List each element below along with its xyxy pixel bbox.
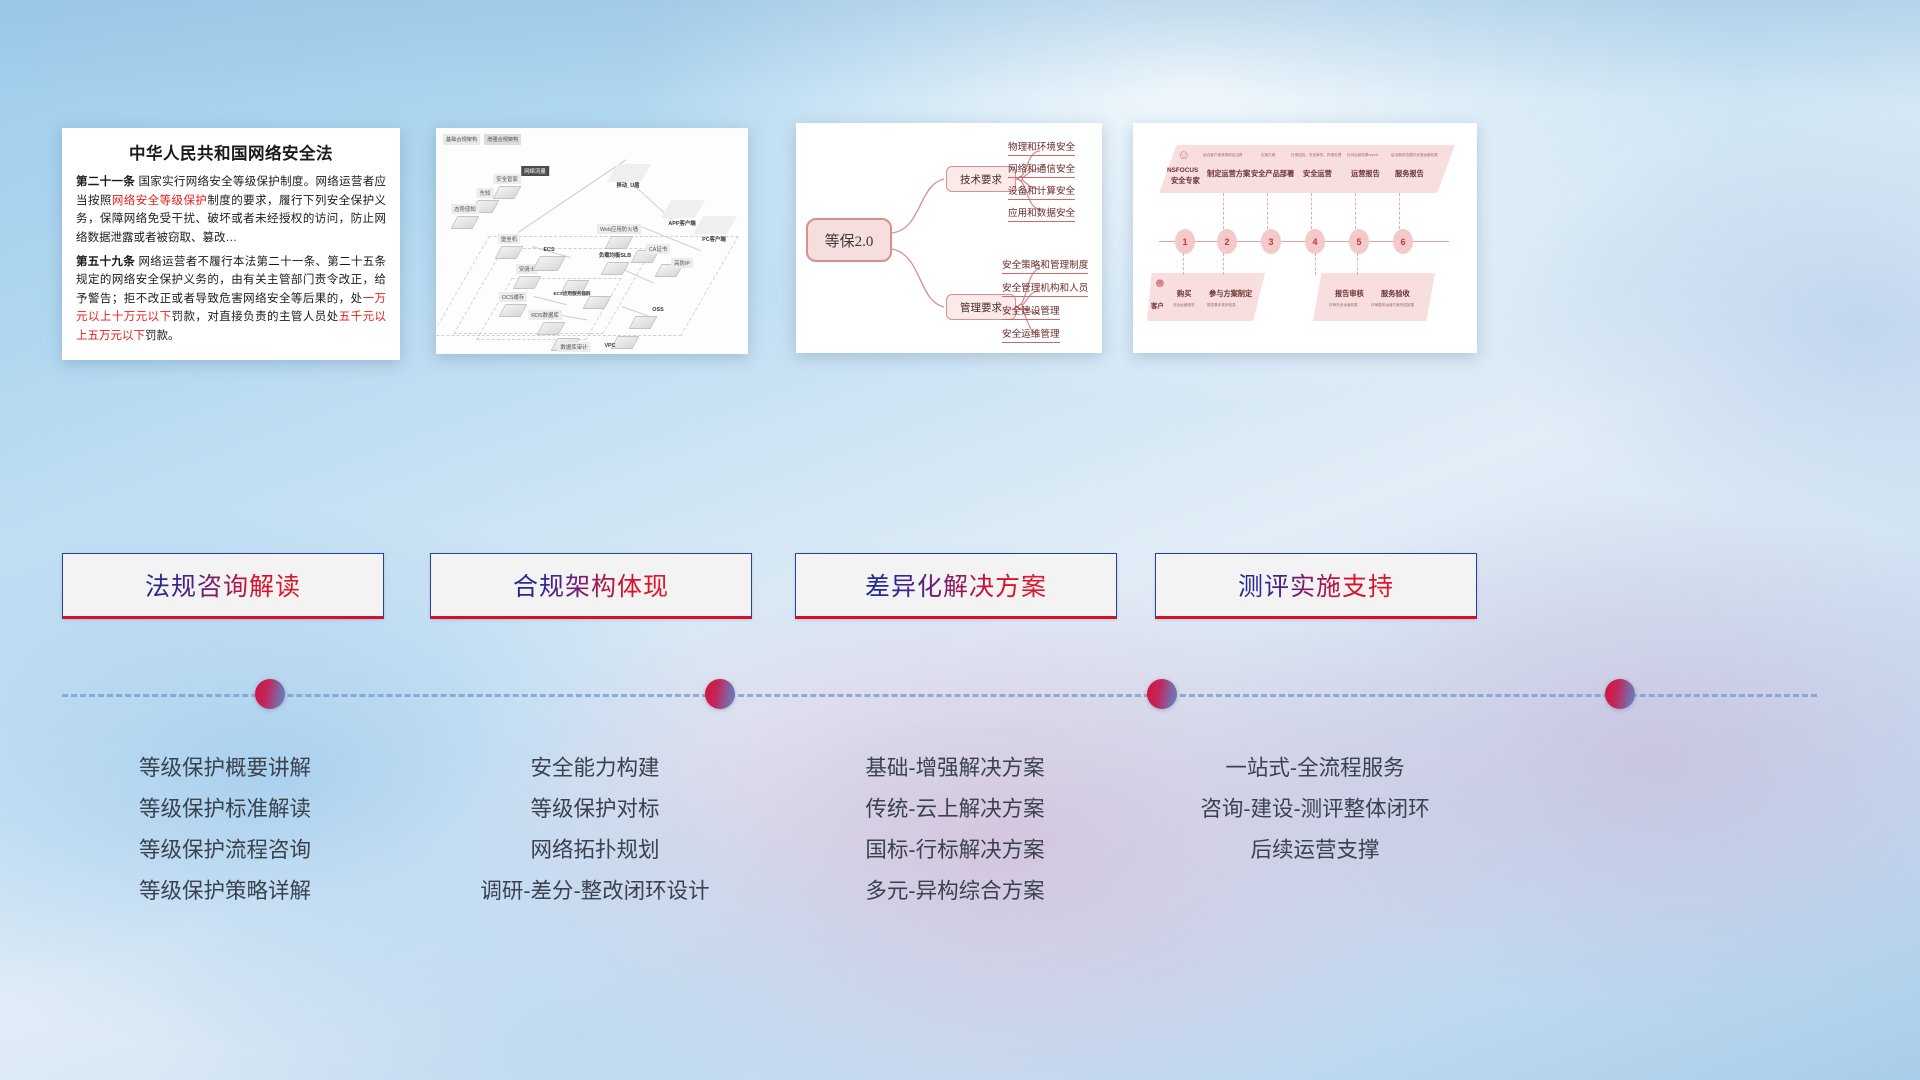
- card-cybersecurity-law: 中华人民共和国网络安全法 第二十一条 国家实行网络安全等级保护制度。网络运营者应…: [62, 128, 400, 360]
- process-bottom-sub-1: 安全运营服务: [1173, 303, 1195, 308]
- process-expert-brand: NSFOCUS: [1167, 167, 1198, 174]
- customer-icon: ☻: [1153, 275, 1167, 290]
- law-article-59-label: 第五十九条: [76, 256, 135, 268]
- arch-node-pc-client: PC客户端: [699, 234, 729, 244]
- process-top-sub-3: 日常巡检、安全事件、异常处理: [1291, 153, 1341, 158]
- process-top-sub-1: 结合客户现状调研后出具: [1203, 153, 1243, 158]
- mindmap-leaf-policy-system: 安全策略和管理制度: [1002, 257, 1088, 274]
- list-item: 网络拓扑规划: [430, 830, 760, 871]
- list-item: 等级保护概要讲解: [60, 748, 390, 789]
- law-article-59-text-b: 罚款，对直接负责的主管人员处: [172, 311, 339, 323]
- arch-node-app-client: APP客户端: [665, 218, 698, 228]
- mindmap-leaf-physical-env: 物理和环境安全: [1008, 139, 1075, 156]
- list-item: 后续运营支撑: [1150, 830, 1480, 871]
- list-item: 一站式-全流程服务: [1150, 748, 1480, 789]
- process-top-title-3: 安全运营: [1303, 169, 1332, 179]
- process-top-sub-4: 针对运营效果report: [1347, 153, 1378, 158]
- list-item: 等级保护策略详解: [60, 871, 390, 912]
- law-article-21-label: 第二十一条: [76, 176, 135, 188]
- process-bottom-sub-2: 提供基本现状信息: [1207, 303, 1236, 308]
- timeline-dashed-line: [62, 694, 1817, 697]
- security-expert-icon: ☺: [1177, 147, 1190, 162]
- process-expert-role: 安全专家: [1171, 176, 1200, 186]
- arch-node-ecs: ECS: [540, 246, 557, 254]
- arch-node-ecs-cluster: ECS应用服务器群: [550, 290, 593, 298]
- arch-node-security-butler: 安全管家: [493, 174, 521, 184]
- process-bottom-title-4: 服务验收: [1381, 289, 1410, 299]
- mindmap-leaf-ops-mgmt: 安全运维管理: [1002, 326, 1060, 343]
- bullet-column-2: 安全能力构建 等级保护对标 网络拓扑规划 调研-差分-整改闭环设计: [430, 748, 760, 911]
- list-item: 等级保护流程咨询: [60, 830, 390, 871]
- list-item: 等级保护对标: [430, 789, 760, 830]
- arch-node-bastion-host: 堡垒机: [498, 234, 520, 244]
- timeline-dot-4[interactable]: [1605, 679, 1635, 709]
- title-label-2: 合规架构体现: [513, 567, 669, 603]
- bullet-column-4: 一站式-全流程服务 咨询-建设-测评整体闭环 后续运营支撑: [1150, 748, 1480, 871]
- arch-node-slb: 负载均衡SLB: [596, 250, 634, 260]
- arch-node-rds: RDS数据库: [528, 310, 562, 320]
- list-item: 传统-云上解决方案: [790, 789, 1120, 830]
- mindmap-leaf-device-compute: 设备和计算安全: [1008, 183, 1075, 200]
- title-label-1: 法规咨询解读: [145, 567, 301, 603]
- law-article-59: 第五十九条 网络运营者不履行本法第二十一条、第二十五条规定的网络安全保护义务的，…: [76, 253, 386, 346]
- process-top-sub-5: 给出服务范围内全部运营效果: [1391, 153, 1438, 158]
- mindmap-leaf-build-mgmt: 安全建设管理: [1002, 303, 1060, 320]
- title-box-evaluation-support[interactable]: 测评实施支持: [1155, 553, 1477, 619]
- mindmap-leaf-app-data: 应用和数据安全: [1008, 205, 1075, 222]
- process-step-2[interactable]: 2: [1217, 229, 1237, 254]
- arch-node-traffic: 网络流量: [521, 166, 549, 176]
- timeline-dot-3[interactable]: [1147, 679, 1177, 709]
- timeline-dot-2[interactable]: [705, 679, 735, 709]
- arch-node-situational-awareness: 态势感知: [451, 204, 479, 214]
- arch-node-oss: OSS: [649, 306, 666, 314]
- arch-node-ca-certificate: CA证书: [646, 244, 670, 254]
- mindmap-branch-technical: 技术要求: [946, 166, 1016, 192]
- card-compliance-architecture: 基础合规架构 增强合规架构 网络流量 安全管家 先知 态势感知 堡垒机 安骑士: [436, 128, 748, 354]
- title-box-regulation-consulting[interactable]: 法规咨询解读: [62, 553, 384, 619]
- process-step-5[interactable]: 5: [1349, 229, 1369, 254]
- arch-node-foreknowledge: 先知: [477, 188, 494, 198]
- list-item: 基础-增强解决方案: [790, 748, 1120, 789]
- list-item: 国标-行标解决方案: [790, 830, 1120, 871]
- tab-basic-architecture[interactable]: 基础合规架构: [443, 134, 480, 145]
- list-item: 安全能力构建: [430, 748, 760, 789]
- process-bottom-sub-3: 评审安全运营效果: [1329, 303, 1358, 308]
- list-item: 等级保护标准解读: [60, 789, 390, 830]
- card-mindmap-dengbao: 等保2.0 技术要求 物理和环境安全 网络和通信安全 设备和计算安全 应用和数据…: [796, 123, 1102, 353]
- architecture-tabs: 基础合规架构 增强合规架构: [443, 134, 521, 145]
- process-customer-role: 客户: [1151, 301, 1164, 310]
- law-article-21: 第二十一条 国家实行网络安全等级保护制度。网络运营者应当按照网络安全等级保护制度…: [76, 173, 386, 248]
- process-top-sub-2: 实施方案: [1261, 153, 1275, 158]
- law-title: 中华人民共和国网络安全法: [76, 140, 386, 164]
- law-article-21-highlight: 网络安全等级保护: [112, 195, 208, 207]
- bullet-column-3: 基础-增强解决方案 传统-云上解决方案 国标-行标解决方案 多元-异构综合方案: [790, 748, 1120, 911]
- process-bottom-title-3: 报告审核: [1335, 289, 1364, 299]
- arch-node-anti-ddos-ip: 高防IP: [671, 258, 693, 268]
- process-bottom-title-2: 参与方案制定: [1209, 289, 1252, 299]
- process-top-title-1: 制定运营方案: [1207, 169, 1250, 179]
- mindmap-leaf-network-comm: 网络和通信安全: [1008, 161, 1075, 178]
- process-top-title-4: 运营报告: [1351, 169, 1380, 179]
- tab-enhanced-architecture[interactable]: 增强合规架构: [484, 134, 521, 145]
- title-box-compliance-architecture[interactable]: 合规架构体现: [430, 553, 752, 619]
- process-step-3[interactable]: 3: [1261, 229, 1281, 254]
- list-item: 调研-差分-整改闭环设计: [430, 871, 760, 912]
- law-article-59-text-c: 罚款。: [145, 330, 180, 342]
- title-label-4: 测评实施支持: [1238, 567, 1394, 603]
- mindmap-core-node: 等保2.0: [806, 218, 892, 262]
- card-nsfocus-process: ☺ NSFOCUS 安全专家 结合客户现状调研后出具 制定运营方案 实施方案 安…: [1133, 123, 1477, 353]
- arch-node-waf: Web应用防火墙: [597, 224, 641, 234]
- bullet-column-1: 等级保护概要讲解 等级保护标准解读 等级保护流程咨询 等级保护策略详解: [60, 748, 390, 911]
- process-bottom-sub-4: 评审整体运营方案完成效果: [1371, 303, 1414, 308]
- timeline-dot-1[interactable]: [255, 679, 285, 709]
- arch-node-mobile-ushield: 移动_U盾: [613, 180, 642, 190]
- process-top-title-5: 服务报告: [1395, 169, 1424, 179]
- list-item: 多元-异构综合方案: [790, 871, 1120, 912]
- process-step-6[interactable]: 6: [1393, 229, 1413, 254]
- title-box-differentiated-solution[interactable]: 差异化解决方案: [795, 553, 1117, 619]
- process-band-customer-right: [1313, 273, 1435, 321]
- mindmap-leaf-org-personnel: 安全管理机构和人员: [1002, 280, 1088, 297]
- list-item: 咨询-建设-测评整体闭环: [1150, 789, 1480, 830]
- arch-node-ocs-cache: OCS缓存: [499, 292, 527, 302]
- arch-node-vpc: VPC: [601, 342, 618, 350]
- process-step-1[interactable]: 1: [1175, 229, 1195, 254]
- title-label-3: 差异化解决方案: [865, 567, 1047, 603]
- arch-node-db-audit: 数据库审计: [558, 342, 591, 352]
- process-step-4[interactable]: 4: [1305, 229, 1325, 254]
- process-bottom-title-1: 购买: [1177, 289, 1191, 299]
- process-top-title-2: 安全产品部署: [1251, 169, 1294, 179]
